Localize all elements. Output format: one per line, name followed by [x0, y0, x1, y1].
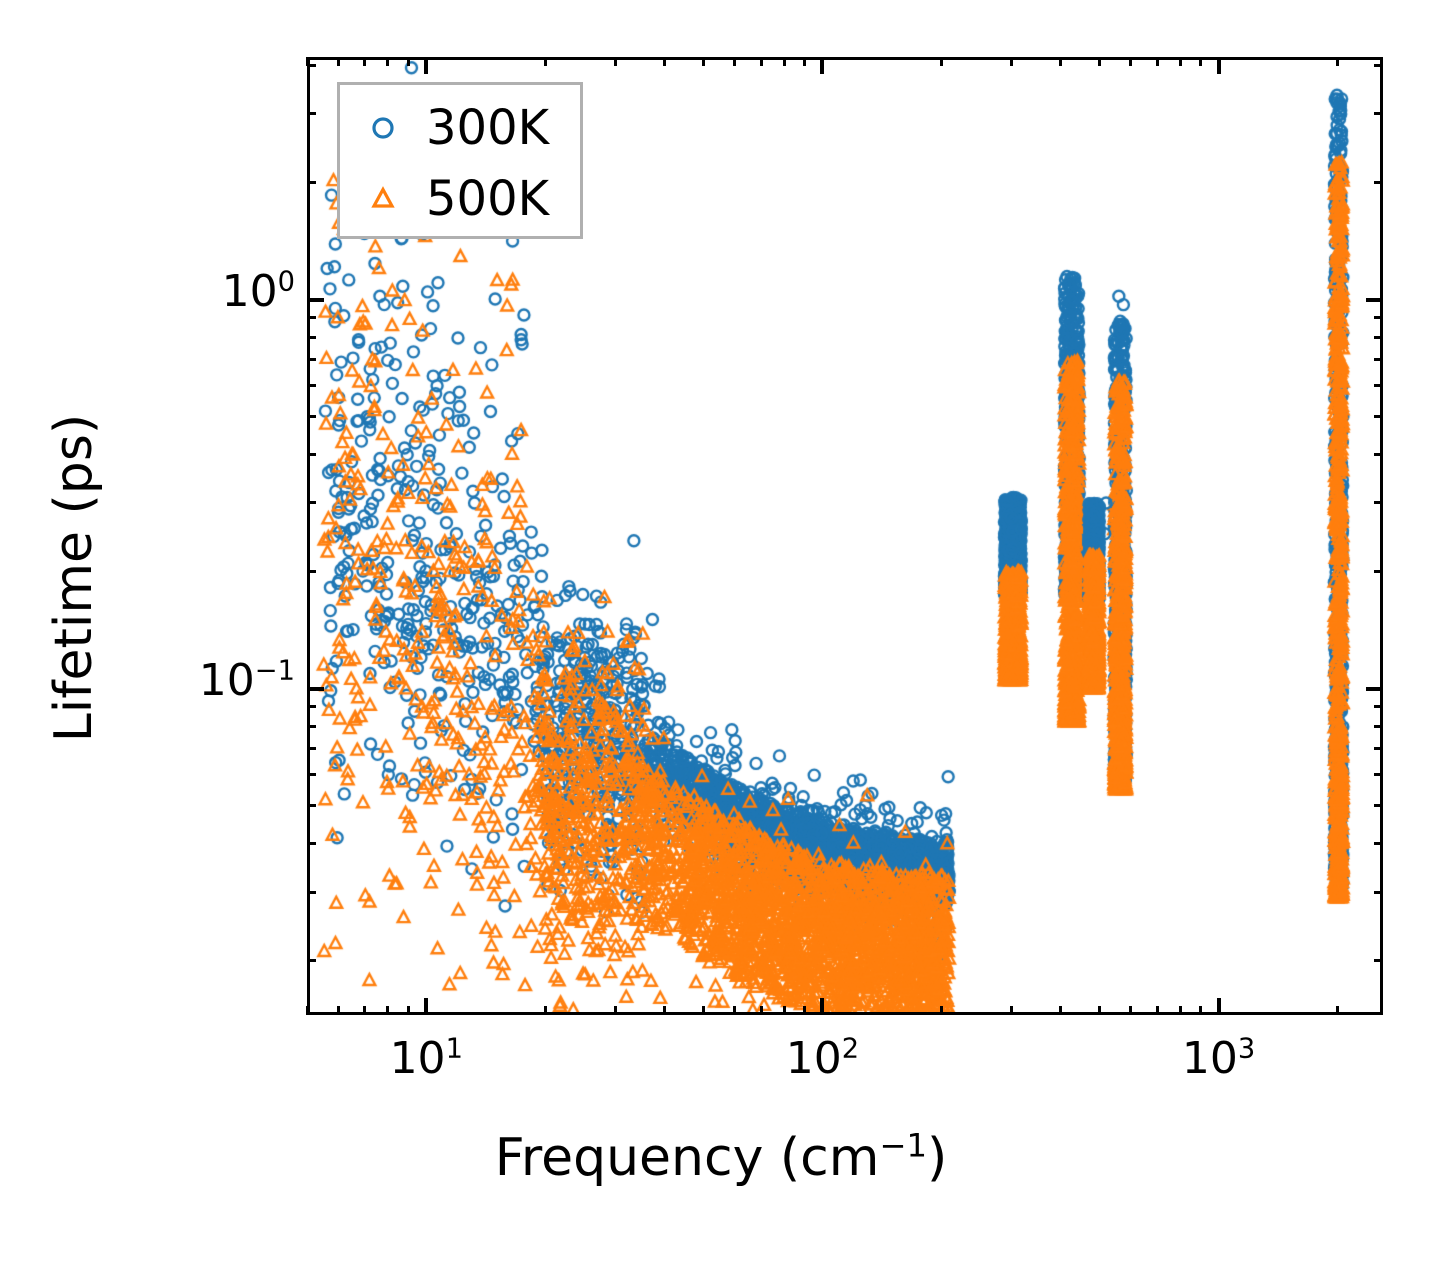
- x-minor-tick-top: [386, 57, 389, 66]
- y-minor-tick: [307, 747, 316, 750]
- x-minor-tick: [760, 1006, 763, 1015]
- y-minor-tick: [307, 181, 316, 184]
- x-minor-tick: [1098, 1006, 1101, 1015]
- x-minor-tick: [803, 1006, 806, 1015]
- x-major-tick-top: [820, 57, 824, 74]
- y-major-tick: [307, 298, 324, 302]
- x-minor-tick-top: [702, 57, 705, 66]
- y-minor-tick: [307, 64, 316, 67]
- x-minor-tick-top: [1010, 57, 1013, 66]
- x-minor-tick-top: [1129, 57, 1132, 66]
- x-minor-tick-top: [733, 57, 736, 66]
- y-minor-tick: [307, 112, 316, 115]
- x-minor-tick-top: [1059, 57, 1062, 66]
- x-axis-label: Frequency (cm−1): [0, 1128, 1442, 1188]
- x-minor-tick: [337, 1006, 340, 1015]
- x-minor-tick-top: [1098, 57, 1101, 66]
- y-tick-label-10e-1: 10−1: [155, 659, 295, 703]
- x-minor-tick: [663, 1006, 666, 1015]
- x-minor-tick: [386, 1006, 389, 1015]
- x-minor-tick: [940, 1006, 943, 1015]
- x-minor-tick-top: [760, 57, 763, 66]
- x-minor-tick: [306, 1006, 309, 1015]
- y-minor-tick: [307, 501, 316, 504]
- x-minor-tick: [1129, 1006, 1132, 1015]
- legend-item-500K[interactable]: 500K: [340, 164, 586, 234]
- y-minor-tick: [307, 453, 316, 456]
- x-minor-tick: [407, 1006, 410, 1015]
- y-major-tick-right: [1366, 298, 1383, 302]
- x-minor-tick: [363, 1006, 366, 1015]
- x-minor-tick-top: [663, 57, 666, 66]
- y-minor-tick-right: [1374, 747, 1383, 750]
- y-minor-tick-right: [1374, 316, 1383, 319]
- x-minor-tick: [1010, 1006, 1013, 1015]
- x-minor-tick-top: [1179, 57, 1182, 66]
- y-minor-tick: [307, 773, 316, 776]
- y-minor-tick-right: [1374, 384, 1383, 387]
- x-minor-tick: [783, 1006, 786, 1015]
- circle-open-icon: [340, 113, 426, 143]
- y-minor-tick-right: [1374, 705, 1383, 708]
- y-minor-tick-right: [1374, 773, 1383, 776]
- x-minor-tick: [614, 1006, 617, 1015]
- y-minor-tick: [307, 804, 316, 807]
- legend-box[interactable]: 300K 500K: [337, 82, 583, 239]
- y-major-tick-right: [1366, 687, 1383, 691]
- x-minor-tick-top: [614, 57, 617, 66]
- y-minor-tick-right: [1374, 181, 1383, 184]
- y-minor-tick-right: [1374, 501, 1383, 504]
- y-minor-tick-right: [1374, 570, 1383, 573]
- x-minor-tick: [1156, 1006, 1159, 1015]
- y-minor-tick: [307, 316, 316, 319]
- x-minor-tick-top: [1156, 57, 1159, 66]
- y-minor-tick-right: [1374, 415, 1383, 418]
- y-minor-tick: [307, 358, 316, 361]
- y-minor-tick: [307, 891, 316, 894]
- y-axis-label: Lifetime (ps): [44, 298, 104, 858]
- x-major-tick-top: [424, 57, 428, 74]
- x-minor-tick: [1059, 1006, 1062, 1015]
- x-minor-tick-top: [363, 57, 366, 66]
- x-minor-tick-top: [1199, 57, 1202, 66]
- x-minor-tick: [1179, 1006, 1182, 1015]
- x-major-tick: [1217, 998, 1221, 1015]
- y-minor-tick: [307, 705, 316, 708]
- x-minor-tick-top: [337, 57, 340, 66]
- y-minor-tick-right: [1374, 891, 1383, 894]
- legend-label-500K: 500K: [426, 175, 549, 223]
- x-minor-tick: [733, 1006, 736, 1015]
- legend-item-300K[interactable]: 300K: [340, 93, 586, 163]
- triangle-open-icon: [340, 184, 426, 214]
- x-minor-tick-top: [803, 57, 806, 66]
- y-minor-tick-right: [1374, 804, 1383, 807]
- y-minor-tick: [307, 336, 316, 339]
- legend-label-300K: 300K: [426, 104, 549, 152]
- y-minor-tick: [307, 570, 316, 573]
- x-tick-label-10e1: 101: [364, 1037, 488, 1081]
- y-minor-tick: [307, 725, 316, 728]
- figure-canvas: 101 102 103 100 10−1 Frequency (cm−1) Li…: [0, 0, 1442, 1265]
- x-minor-tick-top: [544, 57, 547, 66]
- y-minor-tick: [307, 415, 316, 418]
- y-minor-tick-right: [1374, 959, 1383, 962]
- y-minor-tick: [307, 842, 316, 845]
- x-minor-tick: [702, 1006, 705, 1015]
- y-minor-tick-right: [1374, 842, 1383, 845]
- x-major-tick: [820, 998, 824, 1015]
- y-minor-tick-right: [1374, 358, 1383, 361]
- y-minor-tick-right: [1374, 453, 1383, 456]
- x-tick-label-10e3: 103: [1157, 1037, 1281, 1081]
- y-minor-tick: [307, 384, 316, 387]
- y-major-tick: [307, 687, 324, 691]
- x-minor-tick-top: [1336, 57, 1339, 66]
- x-major-tick: [424, 998, 428, 1015]
- x-minor-tick: [1199, 1006, 1202, 1015]
- x-tick-label-10e2: 102: [760, 1037, 884, 1081]
- y-minor-tick-right: [1374, 112, 1383, 115]
- y-minor-tick-right: [1374, 725, 1383, 728]
- y-minor-tick-right: [1374, 64, 1383, 67]
- x-minor-tick-top: [940, 57, 943, 66]
- x-minor-tick: [544, 1006, 547, 1015]
- x-minor-tick-top: [783, 57, 786, 66]
- y-tick-label-10e0: 100: [155, 270, 295, 314]
- x-minor-tick-top: [407, 57, 410, 66]
- x-minor-tick: [1336, 1006, 1339, 1015]
- x-major-tick-top: [1217, 57, 1221, 74]
- y-minor-tick: [307, 959, 316, 962]
- y-minor-tick-right: [1374, 336, 1383, 339]
